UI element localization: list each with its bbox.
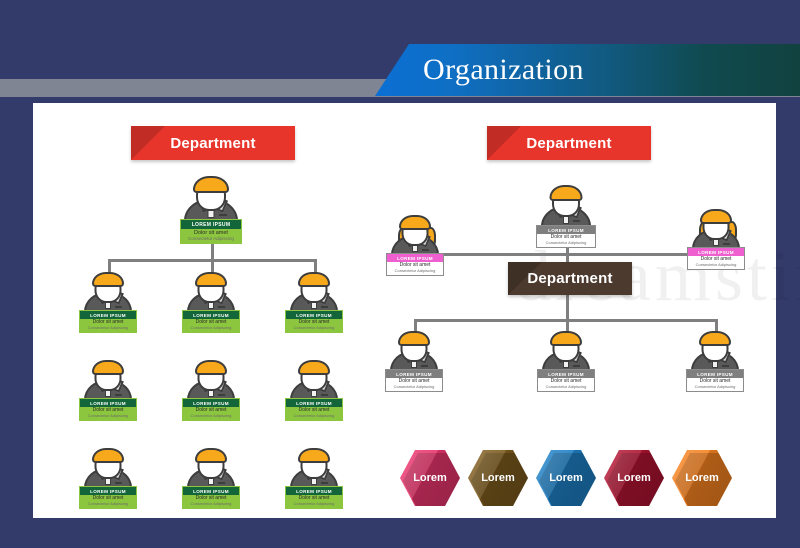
node-line-2: Consectetur Adipiscing (80, 502, 136, 507)
node-header: LOREM IPSUM (688, 248, 744, 256)
node-line-2: Consectetur Adipiscing (183, 502, 239, 507)
ribbon-fold (131, 126, 165, 160)
department-ribbon-right[interactable]: Department (487, 126, 651, 160)
node-line-2: Consectetur Adipiscing (537, 241, 595, 246)
node-header: LOREM IPSUM (386, 370, 442, 378)
node-line-2: Consectetur Adipiscing (183, 414, 239, 419)
node-line-2: Consectetur Adipiscing (286, 326, 342, 331)
hexagon-shape-1: Lorem (400, 450, 460, 506)
node-header: LOREM IPSUM (183, 487, 239, 495)
hexagon-label-3: Lorem (549, 472, 583, 484)
hexagon-label-5: Lorem (685, 472, 719, 484)
node-header: LOREM IPSUM (286, 399, 342, 407)
hexagon-shape-2: Lorem (468, 450, 528, 506)
hexagon-label-2: Lorem (481, 472, 515, 484)
node-header: LOREM IPSUM (687, 370, 743, 378)
node-line-2: Consectetur Adipiscing (386, 385, 442, 390)
node-header: LOREM IPSUM (286, 311, 342, 319)
hexagon-legend-row: Lorem Lorem Lorem Lorem (400, 450, 730, 506)
node-header: LOREM IPSUM (181, 220, 241, 229)
department-ribbon-left[interactable]: Department (131, 126, 295, 160)
node-header: LOREM IPSUM (80, 399, 136, 407)
page-title: Organization (423, 53, 584, 87)
hexagon-item-1[interactable]: Lorem (400, 450, 460, 506)
node-header: LOREM IPSUM (538, 370, 594, 378)
node-line-2: Consectetur Adipiscing (688, 263, 744, 268)
node-line-2: Consectetur Adipiscing (80, 414, 136, 419)
hexagon-item-4[interactable]: Lorem (604, 450, 664, 506)
ribbon-fold (487, 126, 521, 160)
node-header: LOREM IPSUM (183, 399, 239, 407)
department-label-center: Department (527, 270, 612, 287)
department-box-center[interactable]: Department (508, 262, 632, 295)
node-header: LOREM IPSUM (387, 254, 443, 262)
node-line-2: Consectetur Adipiscing (286, 414, 342, 419)
hexagon-shape-5: Lorem (672, 450, 732, 506)
hexagon-item-2[interactable]: Lorem (468, 450, 528, 506)
node-header: LOREM IPSUM (80, 487, 136, 495)
node-line-2: Consectetur Adipiscing (538, 385, 594, 390)
node-line-2: Consectetur Adipiscing (181, 236, 241, 241)
node-header: LOREM IPSUM (537, 226, 595, 234)
node-header: LOREM IPSUM (183, 311, 239, 319)
hexagon-item-5[interactable]: Lorem (672, 450, 732, 506)
node-line-2: Consectetur Adipiscing (687, 385, 743, 390)
connector-right-center-stem (566, 294, 569, 320)
hexagon-shape-4: Lorem (604, 450, 664, 506)
hexagon-label-4: Lorem (617, 472, 651, 484)
department-label-left: Department (170, 135, 255, 152)
hexagon-shape-3: Lorem (536, 450, 596, 506)
node-line-2: Consectetur Adipiscing (387, 269, 443, 274)
hexagon-label-1: Lorem (413, 472, 447, 484)
hexagon-item-3[interactable]: Lorem (536, 450, 596, 506)
node-header: LOREM IPSUM (80, 311, 136, 319)
department-label-right: Department (526, 135, 611, 152)
node-line-2: Consectetur Adipiscing (183, 326, 239, 331)
node-header: LOREM IPSUM (286, 487, 342, 495)
header-banner: Organization (375, 44, 800, 96)
node-line-2: Consectetur Adipiscing (80, 326, 136, 331)
infographic-canvas: Organization dreamstime Department Depar… (0, 0, 800, 548)
node-line-2: Consectetur Adipiscing (286, 502, 342, 507)
